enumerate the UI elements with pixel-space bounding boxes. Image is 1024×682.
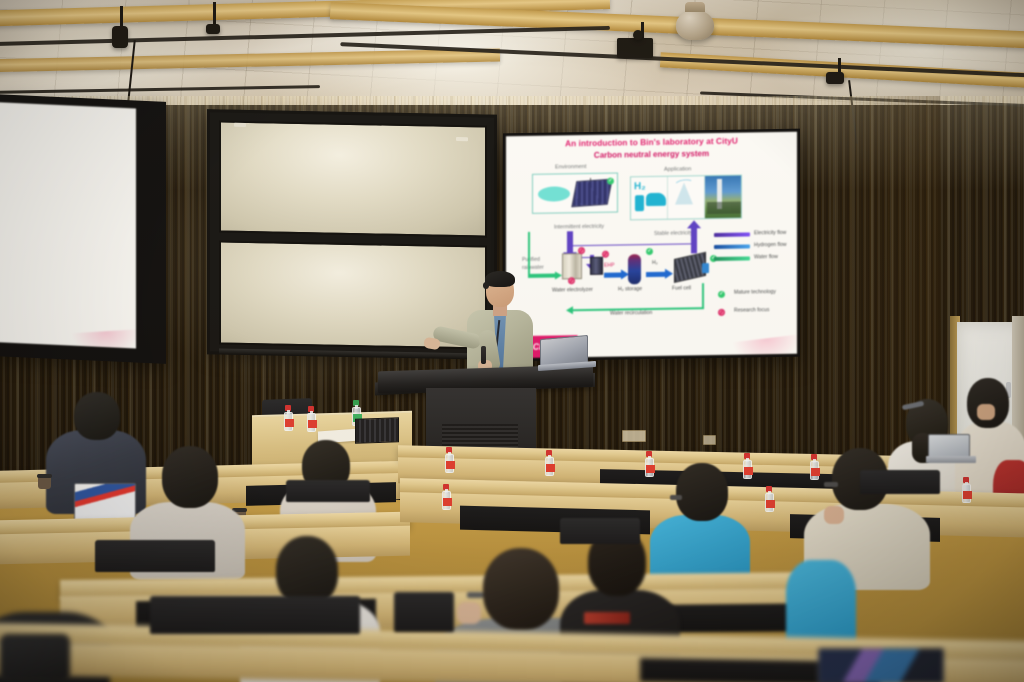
bottle-body — [545, 457, 554, 476]
bottle-body — [442, 491, 451, 510]
water-bottle[interactable] — [307, 406, 316, 432]
main-slide: An introduction to Bin's laboratory at C… — [506, 132, 797, 359]
bottle-body — [962, 484, 971, 503]
arrow-electricity-down — [567, 231, 573, 253]
coffee-cup[interactable] — [38, 474, 51, 489]
label-stable-electricity: Stable electricity — [654, 230, 693, 237]
research-icon-electrolyzer-bottom — [568, 277, 575, 284]
slide-title: An introduction to Bin's laboratory at C… — [506, 136, 797, 150]
presenter-ear — [483, 282, 489, 289]
attendee-head — [676, 463, 728, 521]
water-bottle[interactable] — [765, 486, 774, 512]
bottle-body — [307, 413, 316, 432]
water-bottle[interactable] — [442, 484, 451, 510]
whiteboard[interactable] — [207, 109, 497, 360]
main-projection-screen[interactable]: An introduction to Bin's laboratory at C… — [503, 129, 800, 362]
line-stable-electricity — [570, 243, 693, 246]
bottle-label — [308, 420, 317, 428]
attendee-face — [977, 404, 995, 420]
glasses-icon — [467, 592, 483, 598]
tshirt-graphic — [584, 612, 630, 624]
laptop-keyboard[interactable] — [926, 456, 976, 463]
fuel-cell-port — [702, 263, 709, 273]
h2-tank-icon — [635, 195, 644, 211]
plant-buildings — [707, 202, 741, 215]
dome-light-cap — [685, 2, 705, 12]
presenter-hair — [485, 271, 515, 287]
label-water-electrolyzer: Water electrolyzer — [552, 287, 593, 294]
app-telecom-cell — [668, 176, 705, 219]
glasses-icon — [670, 495, 682, 500]
check-icon-storage: ✓ — [646, 248, 653, 255]
slide-subtitle: Carbon neutral energy system — [506, 148, 797, 162]
water-bottle[interactable] — [445, 447, 454, 473]
legend-bar-electricity — [714, 232, 750, 237]
bottle-body — [284, 412, 293, 431]
presenter-laptop[interactable] — [540, 337, 592, 371]
ceiling-projector — [617, 38, 653, 58]
chair-foreground-left[interactable] — [150, 596, 360, 634]
bottle-label — [963, 491, 972, 499]
h2-storage-icon — [628, 254, 641, 284]
research-icon-electrolyzer-top — [578, 247, 585, 254]
check-icon-legend: ✓ — [718, 291, 725, 298]
check-icon-solar: ✓ — [607, 178, 614, 185]
fuel-car-icon — [646, 193, 666, 206]
bottle-label — [285, 419, 294, 427]
track-spotlight-2 — [206, 24, 220, 34]
whiteboard-panel-top[interactable] — [219, 120, 487, 237]
legend-label-water: Water flow — [754, 254, 778, 260]
attendee-head — [967, 378, 1009, 428]
bottle-label — [443, 498, 452, 506]
label-h2: H₂ — [652, 260, 658, 266]
laptop-screen[interactable] — [928, 434, 970, 458]
environment-box: ✓ — [532, 173, 618, 214]
arrow-hydrogen-1 — [604, 272, 622, 277]
chair-row2-center[interactable] — [560, 518, 640, 544]
cloud-icon — [538, 186, 570, 202]
research-icon-ehp — [602, 251, 609, 258]
water-bottle[interactable] — [962, 477, 971, 503]
legend-label-mature-technology: Mature technology — [734, 289, 776, 296]
bottle-label — [766, 500, 775, 508]
label-application: Application — [664, 166, 691, 172]
research-icon-legend — [718, 309, 725, 316]
arrow-recirculation — [572, 309, 582, 312]
cup-lid — [37, 474, 52, 478]
label-water-recirculation: Water recirculation — [610, 310, 652, 317]
ceiling-light-glow-right — [760, 0, 1024, 105]
whiteboard-clip-right — [456, 137, 468, 141]
label-fuel-cell: Fuel cell — [672, 285, 691, 291]
attendee-head — [74, 392, 120, 440]
lecture-hall-photo: An introduction to Bin's laboratory at C… — [0, 0, 1024, 682]
label-purified: Purified — [522, 257, 540, 263]
chair-foreground-center[interactable] — [394, 592, 454, 632]
backpack[interactable] — [0, 634, 70, 682]
h2-label-icon: H₂ — [634, 181, 646, 192]
dome-ceiling-light — [676, 10, 714, 40]
water-electrolyzer-icon — [562, 253, 582, 279]
attendee-head — [483, 548, 559, 630]
attendee-hand — [457, 602, 481, 624]
bottle-body — [445, 454, 454, 473]
track-spotlight-1 — [112, 26, 128, 48]
legend-label-research-focus: Research focus — [734, 307, 769, 314]
attendee-blue-right-front — [786, 540, 856, 650]
foreground-laptop[interactable] — [818, 648, 948, 682]
label-environment: Environment — [555, 164, 586, 170]
bottle-label — [546, 464, 555, 472]
glasses-icon — [824, 482, 838, 487]
water-bottle[interactable] — [284, 405, 293, 431]
label-ehp: EHP — [604, 263, 614, 269]
app-industry-cell — [705, 176, 741, 219]
legend-label-hydrogen: Hydrogen flow — [754, 242, 787, 249]
attendee-hand-at-chin — [824, 506, 844, 524]
line-recirc-right — [702, 283, 704, 309]
left-display-panel[interactable]: An introduction to Bin's laboratory at C… — [0, 94, 166, 364]
bottle-label — [446, 461, 455, 469]
label-intermittent-electricity: Intermittent electricity — [554, 224, 604, 231]
arrow-hydrogen-2 — [646, 272, 666, 277]
track-spotlight-3 — [826, 72, 844, 84]
whiteboard-clip-left — [234, 123, 246, 127]
water-bottle[interactable] — [545, 450, 554, 476]
chair-row2-left[interactable] — [95, 540, 215, 572]
legend-label-electricity: Electricity flow — [754, 230, 786, 237]
ehp-icon — [590, 257, 603, 275]
chair-row1-left[interactable] — [286, 480, 370, 502]
attendee-laptop-right[interactable] — [928, 434, 974, 466]
arrow-electricity-up — [691, 227, 697, 253]
legend-bar-hydrogen — [714, 244, 750, 249]
label-h2-storage: H₂ storage — [618, 286, 642, 292]
app-hydrogen-cell: H₂ — [631, 177, 668, 220]
left-slide-content: An introduction to Bin's laboratory at C… — [0, 94, 136, 348]
application-box: H₂ — [630, 175, 742, 221]
microphone[interactable] — [481, 346, 486, 364]
laptop-screen[interactable] — [818, 648, 944, 682]
wall-sign-plate — [622, 430, 646, 442]
projector-lens — [633, 30, 643, 40]
chair-row1-right[interactable] — [860, 470, 940, 494]
bottle-body — [765, 493, 774, 512]
wall-power-socket[interactable] — [703, 435, 716, 445]
slide-decoration-swoosh — [732, 334, 797, 358]
legend-bar-water — [714, 256, 750, 261]
telecom-tower-icon — [675, 182, 693, 204]
slide-decoration-swoosh — [71, 329, 136, 348]
attendee-head — [162, 446, 218, 508]
